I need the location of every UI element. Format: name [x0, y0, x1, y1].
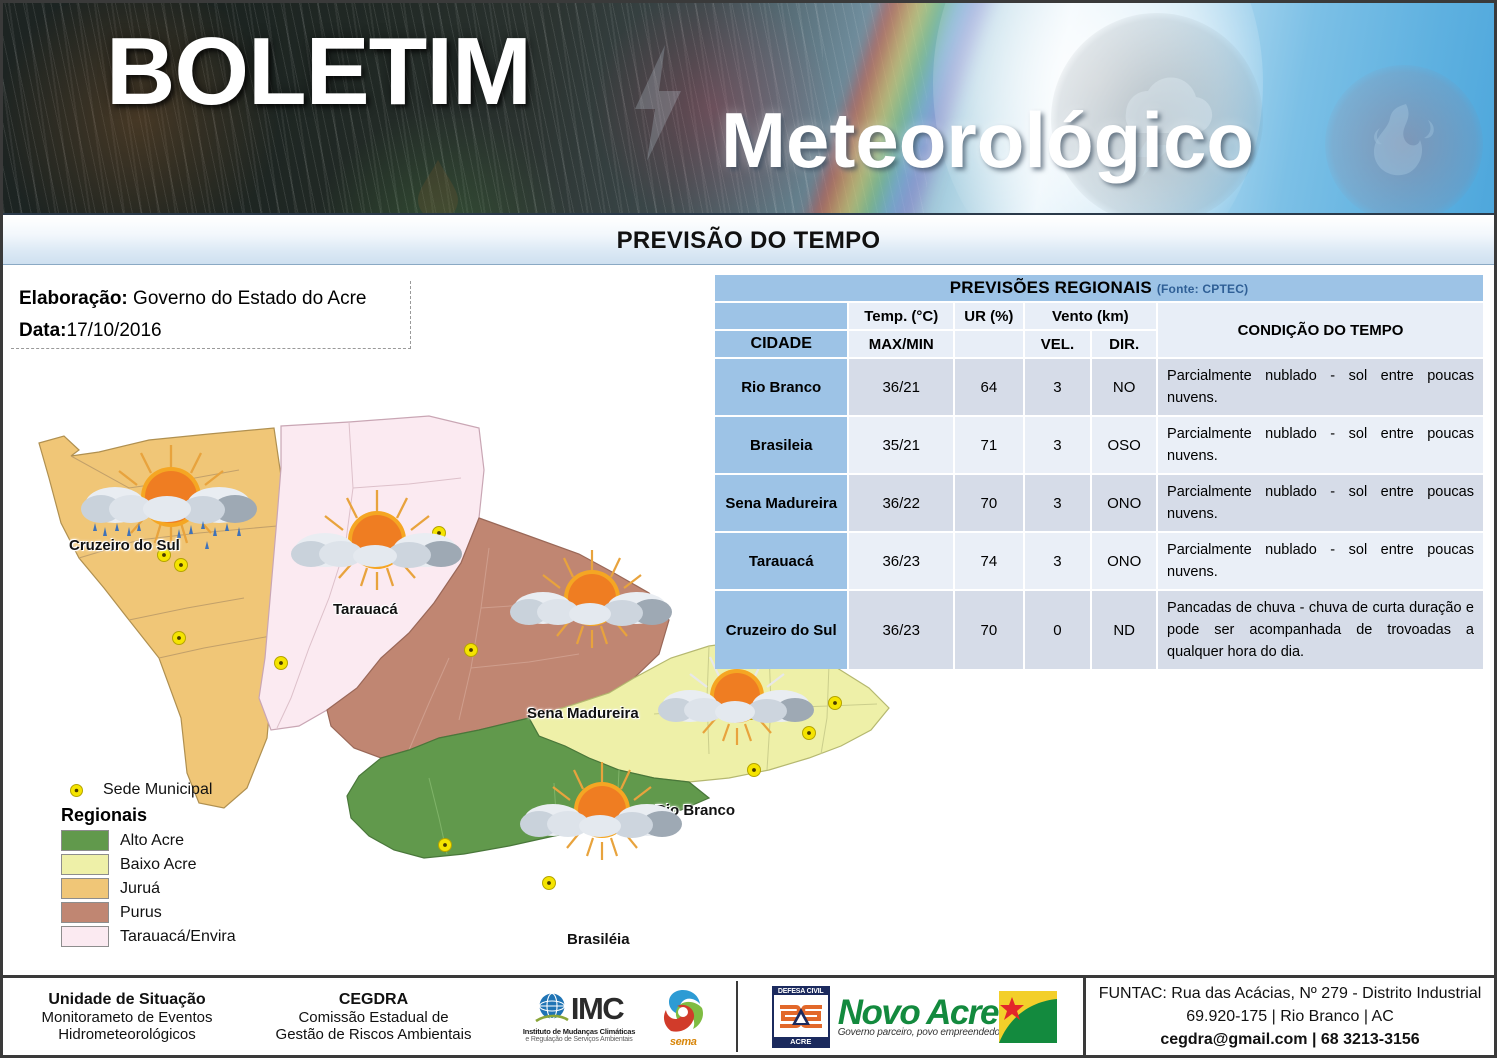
sede-municipal-icon: [70, 784, 83, 797]
subheader-city: CIDADE: [715, 331, 847, 357]
flame-icon: [1325, 65, 1483, 215]
header-banner: BOLETIM Meteorológico: [3, 3, 1494, 215]
novo-acre-logo-text: Novo Acre: [838, 996, 998, 1030]
subheader-wind-dir: DIR.: [1092, 331, 1156, 357]
cell-dir: NO: [1092, 359, 1156, 415]
header-temp: Temp. (°C): [849, 303, 953, 329]
table-title-cell: PREVISÕES REGIONAIS (Fonte: CPTEC): [715, 275, 1483, 301]
subheader-temp: MAX/MIN: [849, 331, 953, 357]
footer-address-line1: FUNTAC: Rua das Acácias, Nº 279 - Distri…: [1099, 982, 1482, 1005]
legend-title: Regionais: [61, 805, 311, 826]
acre-flag-icon: [999, 991, 1057, 1043]
sede-dot: [439, 839, 452, 852]
footer-cegdra-line1: CEGDRA: [339, 991, 408, 1009]
section-title: PREVISÃO DO TEMPO: [617, 227, 881, 255]
cell-vel: 3: [1025, 475, 1091, 531]
cell-city: Tarauacá: [715, 533, 847, 589]
legend-sede-label: Sede Municipal: [103, 781, 212, 799]
table-row: Cruzeiro do Sul 36/23 70 0 ND Pancadas d…: [715, 591, 1483, 669]
banner-title-secondary: Meteorológico: [721, 95, 1254, 186]
footer-unit-line2: Monitorameto de Eventos: [42, 1009, 213, 1026]
map-label-tarauaca: Tarauacá: [333, 601, 398, 618]
lightning-bolt-icon: [603, 13, 713, 193]
date-value: 17/10/2016: [67, 320, 162, 341]
cell-condition: Parcialmente nublado - sol entre poucas …: [1158, 475, 1483, 531]
table-title: PREVISÕES REGIONAIS: [950, 278, 1152, 297]
table-row: Rio Branco 36/21 64 3 NO Parcialmente nu…: [715, 359, 1483, 415]
map-label-cruzeiro-do-sul: Cruzeiro do Sul: [69, 537, 180, 554]
legend-sede-row: Sede Municipal: [61, 781, 311, 799]
cell-city: Rio Branco: [715, 359, 847, 415]
cell-ur: 71: [955, 417, 1023, 473]
cell-condition: Parcialmente nublado - sol entre poucas …: [1158, 533, 1483, 589]
sede-dot: [543, 877, 556, 890]
subheader-wind-speed: VEL.: [1025, 331, 1091, 357]
novo-acre-slogan: Governo parceiro, povo empreendedor.: [838, 1027, 1006, 1038]
date-label: Data:: [19, 320, 67, 341]
footer-address-line2: 69.920-175 | Rio Branco | AC: [1186, 1005, 1394, 1028]
globe-icon: [535, 991, 569, 1027]
cell-ur: 64: [955, 359, 1023, 415]
footer-cegdra-line2: Comissão Estadual de: [298, 1009, 448, 1026]
footer-unit-line1: Unidade de Situação: [48, 991, 205, 1009]
weather-icon-tarauaca: [289, 488, 464, 593]
header-condition: CONDIÇÃO DO TEMPO: [1158, 303, 1483, 357]
cell-city: Cruzeiro do Sul: [715, 591, 847, 669]
table-title-row: PREVISÕES REGIONAIS (Fonte: CPTEC): [715, 275, 1483, 301]
imc-logo-text: IMC: [571, 993, 623, 1024]
map-label-sena-madureira: Sena Madureira: [527, 705, 639, 722]
cell-dir: OSO: [1092, 417, 1156, 473]
novo-acre-logo: Novo Acre Governo parceiro, povo empreen…: [838, 991, 1058, 1043]
weather-icon-sena-madureira: [509, 548, 674, 653]
elaboration-line: Elaboração: Governo do Estado do Acre: [19, 283, 404, 315]
elaboration-value: Governo do Estado do Acre: [133, 288, 366, 309]
legend-swatch-alto-acre: [61, 830, 109, 851]
sede-dot: [465, 644, 478, 657]
legend-swatch-jurua: [61, 878, 109, 899]
imc-logo-subtitle2: e Regulação de Serviços Ambientais: [525, 1036, 632, 1043]
banner-title-primary: BOLETIM: [106, 17, 531, 127]
cell-temp: 36/22: [849, 475, 953, 531]
map-legend: Sede Municipal Regionais Alto Acre Baixo…: [61, 781, 311, 950]
cell-dir: ND: [1092, 591, 1156, 669]
sema-logo: sema: [657, 986, 709, 1048]
sema-logo-mark: [657, 986, 709, 1036]
cell-temp: 35/21: [849, 417, 953, 473]
cell-dir: ONO: [1092, 475, 1156, 531]
cell-condition: Parcialmente nublado - sol entre poucas …: [1158, 417, 1483, 473]
footer-logos-block: IMC Instituto de Mudanças Climáticas e R…: [496, 978, 736, 1055]
elaboration-label: Elaboração:: [19, 288, 128, 309]
cell-condition: Pancadas de chuva - chuva de curta duraç…: [1158, 591, 1483, 669]
regional-forecast-table-wrap: PREVISÕES REGIONAIS (Fonte: CPTEC) Temp.…: [713, 273, 1485, 671]
cell-vel: 0: [1025, 591, 1091, 669]
bulletin-page: BOLETIM Meteorológico PREVISÃO DO TEMPO …: [0, 0, 1497, 1058]
table-row: Tarauacá 36/23 74 3 ONO Parcialmente nub…: [715, 533, 1483, 589]
legend-label-purus: Purus: [120, 904, 162, 922]
cell-temp: 36/23: [849, 591, 953, 669]
legend-row-baixo-acre: Baixo Acre: [61, 854, 311, 875]
footer-cegdra-line3: Gestão de Riscos Ambientais: [276, 1026, 472, 1043]
table-row: Brasileia 35/21 71 3 OSO Parcialmente nu…: [715, 417, 1483, 473]
section-title-bar: PREVISÃO DO TEMPO: [3, 217, 1494, 265]
cell-city: Sena Madureira: [715, 475, 847, 531]
date-line: Data:17/10/2016: [19, 315, 404, 347]
cell-city: Brasileia: [715, 417, 847, 473]
sede-dot: [275, 657, 288, 670]
legend-label-alto-acre: Alto Acre: [120, 832, 184, 850]
map-label-brasileia: Brasiléia: [567, 931, 630, 948]
legend-row-purus: Purus: [61, 902, 311, 923]
legend-label-tarauaca-envira: Tarauacá/Envira: [120, 928, 236, 946]
elaboration-box: Elaboração: Governo do Estado do Acre Da…: [11, 281, 411, 349]
sede-dot: [175, 559, 188, 572]
footer-unit-line3: Hidrometeorológicos: [58, 1026, 196, 1043]
weather-icon-brasileia: [519, 758, 684, 863]
legend-row-alto-acre: Alto Acre: [61, 830, 311, 851]
sede-dot: [173, 632, 186, 645]
subheader-ur: [955, 331, 1023, 357]
sema-logo-text: sema: [670, 1036, 697, 1048]
cell-ur: 74: [955, 533, 1023, 589]
legend-swatch-baixo-acre: [61, 854, 109, 875]
legend-row-jurua: Juruá: [61, 878, 311, 899]
imc-logo-mark: IMC: [535, 991, 623, 1027]
sede-dot: [748, 764, 761, 777]
header-ur: UR (%): [955, 303, 1023, 329]
regional-forecast-table: PREVISÕES REGIONAIS (Fonte: CPTEC) Temp.…: [713, 273, 1485, 671]
legend-swatch-tarauaca-envira: [61, 926, 109, 947]
footer-address-block: FUNTAC: Rua das Acácias, Nº 279 - Distri…: [1083, 978, 1494, 1055]
table-group-header-row: Temp. (°C) UR (%) Vento (km) CONDIÇÃO DO…: [715, 303, 1483, 329]
defesa-civil-logo: DEFESA CIVIL ACRE: [772, 986, 830, 1048]
footer-cegdra-block: CEGDRA Comissão Estadual de Gestão de Ri…: [251, 978, 496, 1055]
imc-logo: IMC Instituto de Mudanças Climáticas e R…: [523, 991, 635, 1043]
defesa-civil-mark: [777, 999, 825, 1033]
defesa-civil-bottom-label: ACRE: [774, 1037, 828, 1046]
cell-temp: 36/23: [849, 533, 953, 589]
sede-dot: [829, 697, 842, 710]
cell-temp: 36/21: [849, 359, 953, 415]
footer-address-line3: cegdra@gmail.com | 68 3213-3156: [1160, 1028, 1419, 1051]
legend-swatch-purus: [61, 902, 109, 923]
legend-label-jurua: Juruá: [120, 880, 160, 898]
legend-row-tarauaca-envira: Tarauacá/Envira: [61, 926, 311, 947]
legend-label-baixo-acre: Baixo Acre: [120, 856, 196, 874]
defesa-civil-top-label: DEFESA CIVIL: [774, 988, 828, 995]
cell-dir: ONO: [1092, 533, 1156, 589]
cell-ur: 70: [955, 475, 1023, 531]
cell-vel: 3: [1025, 359, 1091, 415]
footer-partners-block: DEFESA CIVIL ACRE Novo Acre Governo parc…: [738, 978, 1083, 1055]
cell-vel: 3: [1025, 533, 1091, 589]
header-city-blank: [715, 303, 847, 329]
footer-bar: Unidade de Situação Monitorameto de Even…: [3, 975, 1494, 1055]
cell-ur: 70: [955, 591, 1023, 669]
table-source: (Fonte: CPTEC): [1157, 282, 1248, 296]
cell-vel: 3: [1025, 417, 1091, 473]
footer-unit-block: Unidade de Situação Monitorameto de Even…: [3, 978, 251, 1055]
header-wind: Vento (km): [1025, 303, 1156, 329]
table-row: Sena Madureira 36/22 70 3 ONO Parcialmen…: [715, 475, 1483, 531]
cell-condition: Parcialmente nublado - sol entre poucas …: [1158, 359, 1483, 415]
imc-logo-subtitle1: Instituto de Mudanças Climáticas: [523, 1027, 635, 1036]
